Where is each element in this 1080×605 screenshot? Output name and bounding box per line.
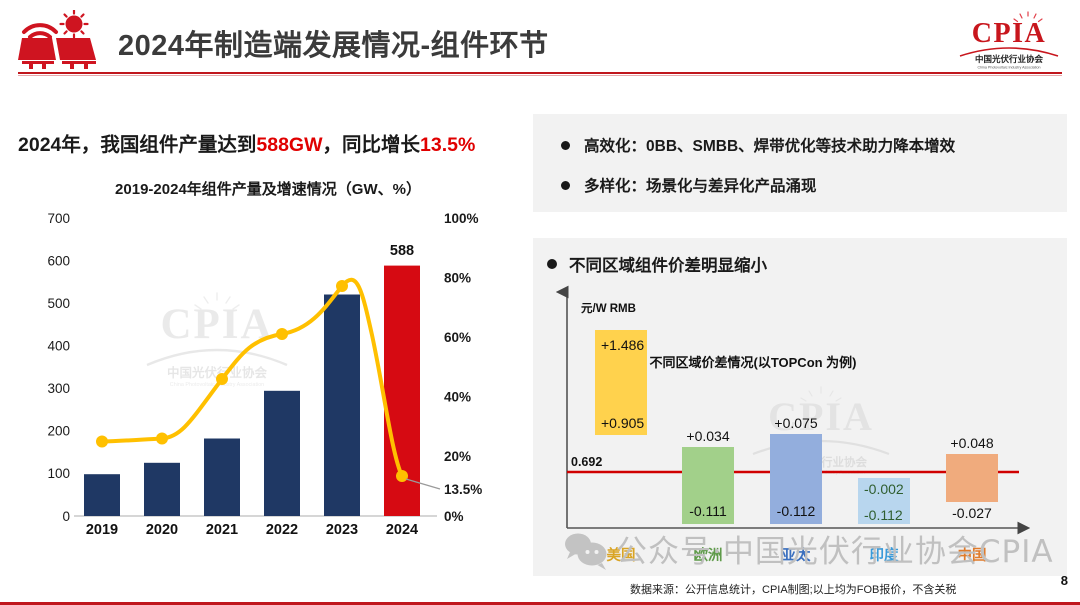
price-top-label-europe: +0.034	[686, 428, 729, 444]
price-cat-label-apac: 亚太	[782, 546, 811, 564]
x-tick-2021: 2021	[206, 522, 238, 535]
page-title: 2024年制造端发展情况-组件环节	[118, 22, 549, 64]
y-tick-300: 300	[47, 381, 70, 396]
bar-label-2024: 588	[390, 243, 414, 259]
x-tick-2022: 2022	[266, 522, 298, 535]
price-baseline-label: 0.692	[571, 455, 602, 469]
headline-part-2: 588GW	[256, 134, 322, 156]
bar-2020	[144, 463, 180, 516]
y2-tick-20: 20%	[444, 449, 471, 464]
y-tick-200: 200	[47, 424, 70, 439]
left-headline: 2024年，我国组件产量达到588GW，同比增长13.5%	[18, 128, 528, 157]
svg-text:中国光伏行业协会: 中国光伏行业协会	[975, 54, 1044, 65]
bullet-label-1: 多样化：场景化与差异化产品涌现	[584, 174, 817, 196]
headline-part-4: 13.5%	[420, 134, 475, 156]
price-bottom-label-india: -0.112	[864, 507, 903, 523]
price-bottom-label-apac: -0.112	[777, 503, 816, 519]
source-note: 数据来源：公开信息统计，CPIA制图;以上均为FOB报价，不含关税	[630, 581, 956, 597]
y2-tick-60: 60%	[444, 330, 471, 345]
bar-2019	[84, 474, 120, 516]
header-divider	[18, 72, 1062, 74]
y2-tick-0: 0%	[444, 509, 464, 524]
production-chart: CPIA 中国光伏行业协会 China Photovoltaic Industr…	[12, 205, 522, 535]
svg-text:China Photovoltaic Industry As: China Photovoltaic Industry Association	[978, 66, 1041, 70]
bar-2022	[264, 391, 300, 516]
price-bottom-label-europe: -0.111	[689, 503, 727, 519]
x-tick-2024: 2024	[386, 522, 418, 535]
growth-point-2024	[396, 470, 408, 482]
y-tick-100: 100	[47, 466, 70, 481]
price-cat-label-europe: 欧洲	[694, 546, 723, 564]
price-cat-label-india: 印度	[870, 546, 899, 564]
price-top-label-apac: +0.075	[774, 415, 817, 431]
price-chart-inner-title: 不同区域价差情况(以TOPCon 为例)	[649, 355, 856, 370]
headline-part-1: 2024年，我国组件产量达到	[18, 134, 256, 156]
growth-point-2022	[276, 328, 288, 340]
y-tick-700: 700	[47, 211, 70, 226]
y2-tick-80: 80%	[444, 271, 471, 286]
bar-2023	[324, 295, 360, 517]
price-top-label-india: -0.002	[864, 481, 904, 497]
price-top-label-us: +1.486	[601, 337, 644, 353]
growth-point-2021	[216, 373, 228, 385]
bullet-dot-icon	[561, 181, 570, 190]
price-cat-label-us: 美国	[607, 546, 636, 564]
growth-point-2020	[156, 433, 168, 445]
page-number: 8	[1061, 573, 1068, 588]
chart-watermark: CPIA 中国光伏行业协会 China Photovoltaic Industr…	[147, 293, 287, 388]
bullet-dot-icon	[547, 259, 557, 269]
y2-tick-100: 100%	[444, 211, 479, 226]
svg-text:CPIA: CPIA	[972, 18, 1046, 49]
price-bar-china	[946, 454, 998, 502]
bullet-label-0: 高效化：0BB、SMBB、焊带优化等技术助力降本增效	[584, 134, 955, 156]
y-tick-500: 500	[47, 296, 70, 311]
y-tick-400: 400	[47, 339, 70, 354]
solar-panel-wifi-icon	[16, 10, 106, 72]
x-tick-2023: 2023	[326, 522, 358, 535]
bullet-item-1: 多样化：场景化与差异化产品涌现	[561, 174, 817, 196]
growth-point-2019	[96, 436, 108, 448]
price-axis-unit: 元/W RMB	[581, 302, 636, 315]
y-tick-600: 600	[47, 254, 70, 269]
headline-part-3: ，同比增长	[323, 134, 421, 156]
regional-price-heading: 不同区域组件价差明显缩小	[569, 252, 767, 276]
growth-annotation-label: 13.5%	[444, 482, 482, 497]
price-bottom-label-us: +0.905	[601, 415, 644, 431]
bullet-dot-icon	[561, 141, 570, 150]
regional-price-panel: 不同区域组件价差明显缩小 CPIA 中国光伏行业协会 China Ph	[533, 238, 1067, 576]
x-tick-2020: 2020	[146, 522, 178, 535]
growth-point-2023	[336, 280, 348, 292]
production-chart-title: 2019-2024年组件产量及增速情况（GW、%）	[18, 178, 518, 199]
header-divider-light	[18, 75, 1062, 76]
bullet-item-0: 高效化：0BB、SMBB、焊带优化等技术助力降本增效	[561, 134, 955, 156]
y2-tick-40: 40%	[444, 390, 471, 405]
y-tick-0: 0	[62, 509, 70, 524]
x-tick-2019: 2019	[86, 522, 118, 535]
bar-2021	[204, 439, 240, 517]
slide-root: 2024年制造端发展情况-组件环节 CPIA 中国光伏行业协会 China Ph…	[0, 0, 1080, 605]
price-cat-label-china: 中国	[958, 546, 987, 564]
cpia-brand-logo: CPIA 中国光伏行业协会 China Photovoltaic Industr…	[954, 10, 1064, 72]
regional-price-chart: CPIA 中国光伏行业协会 China Photovoltaic Industr…	[553, 282, 1059, 574]
regional-price-heading-row: 不同区域组件价差明显缩小	[547, 252, 767, 276]
price-bottom-label-china: -0.027	[952, 505, 992, 521]
key-points-panel: 高效化：0BB、SMBB、焊带优化等技术助力降本增效 多样化：场景化与差异化产品…	[533, 114, 1067, 212]
slide-header: 2024年制造端发展情况-组件环节 CPIA 中国光伏行业协会 China Ph…	[0, 0, 1080, 86]
price-top-label-china: +0.048	[950, 435, 993, 451]
